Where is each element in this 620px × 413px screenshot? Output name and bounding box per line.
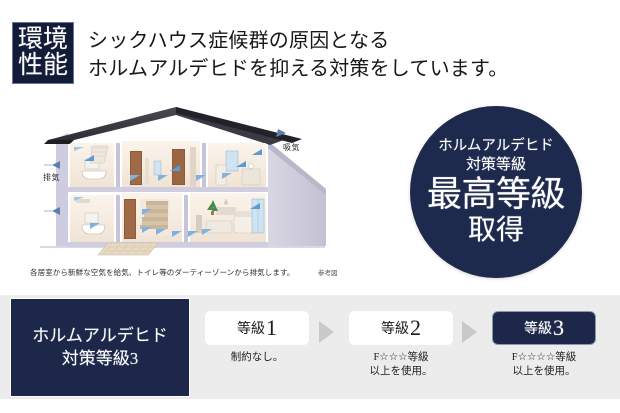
- grade-summary-line1: ホルムアルデヒド: [32, 325, 168, 347]
- figure-note: 参考図: [318, 267, 338, 277]
- grade-chip-3: 等級 3: [492, 311, 596, 345]
- grade-chip-2: 等級 2: [349, 311, 453, 345]
- grade-desc-2-line1: F☆☆☆等級: [349, 351, 453, 365]
- grade-desc-3-line2: 以上を使用。: [492, 365, 596, 379]
- grade-scale-bar: ホルムアルデヒド 対策等級3 等級 1 制約なし。 等級 2 F☆☆☆等級 以上…: [0, 295, 620, 399]
- grade-summary-line2: 対策等級3: [62, 348, 139, 370]
- grade-step-1: 等級 1 制約なし。: [205, 311, 309, 365]
- house-cutaway-svg: [30, 103, 330, 258]
- grade-desc-2: F☆☆☆等級 以上を使用。: [349, 351, 453, 379]
- headline: シックハウス症候群の原因となる ホルムアルデヒドを抑える対策をしています。: [88, 27, 608, 84]
- grade-desc-2-line2: 以上を使用。: [349, 365, 453, 379]
- grade-chip-1-number: 1: [266, 315, 277, 341]
- grade-desc-3-line1: F☆☆☆☆等級: [492, 351, 596, 365]
- category-badge-line1: 環境: [18, 27, 68, 54]
- grade-chip-2-word: 等級: [381, 318, 409, 338]
- grade-chip-3-number: 3: [553, 315, 564, 341]
- house-cutaway-illustration: 排気 吸気: [30, 103, 330, 258]
- seal-line1: ホルムアルデヒド: [438, 138, 554, 155]
- grade-desc-1: 制約なし。: [205, 351, 309, 365]
- grade-chip-1: 等級 1: [205, 311, 309, 345]
- grade-step-3: 等級 3 F☆☆☆☆等級 以上を使用。: [492, 311, 596, 379]
- grade-summary-panel: ホルムアルデヒド 対策等級3: [10, 298, 190, 397]
- headline-line1: シックハウス症候群の原因となる: [88, 27, 608, 55]
- seal-line3: 最高等級: [427, 175, 565, 214]
- illustration-area: 排気 吸気 各居室から新鮮な空気を給気、トイレ等のダーティーゾーンから排気します…: [0, 95, 390, 290]
- arrow-right-icon-1: [319, 321, 334, 343]
- header-area: 環境 性能 シックハウス症候群の原因となる ホルムアルデヒドを抑える対策をしてい…: [0, 0, 620, 95]
- grade-chip-2-number: 2: [410, 315, 421, 341]
- seal-line2: 対策等級: [466, 156, 526, 174]
- figure-caption: 各居室から新鮮な空気を給気、トイレ等のダーティーゾーンから排気します。: [30, 267, 294, 278]
- label-exhaust: 排気: [43, 172, 60, 183]
- grade-chip-3-word: 等級: [524, 318, 552, 338]
- grade-desc-1-line1: 制約なし。: [205, 351, 309, 365]
- seal-line4: 取得: [468, 215, 524, 246]
- category-badge: 環境 性能: [12, 22, 74, 84]
- arrow-right-icon-2: [462, 321, 477, 343]
- grade-desc-3: F☆☆☆☆等級 以上を使用。: [492, 351, 596, 379]
- headline-line2: ホルムアルデヒドを抑える対策をしています。: [88, 55, 608, 83]
- grade-step-2: 等級 2 F☆☆☆等級 以上を使用。: [349, 311, 453, 379]
- grade-chip-1-word: 等級: [237, 318, 265, 338]
- label-intake: 吸気: [283, 142, 300, 153]
- category-badge-line2: 性能: [18, 53, 68, 80]
- highest-grade-seal: ホルムアルデヒド 対策等級 最高等級 取得: [410, 106, 582, 278]
